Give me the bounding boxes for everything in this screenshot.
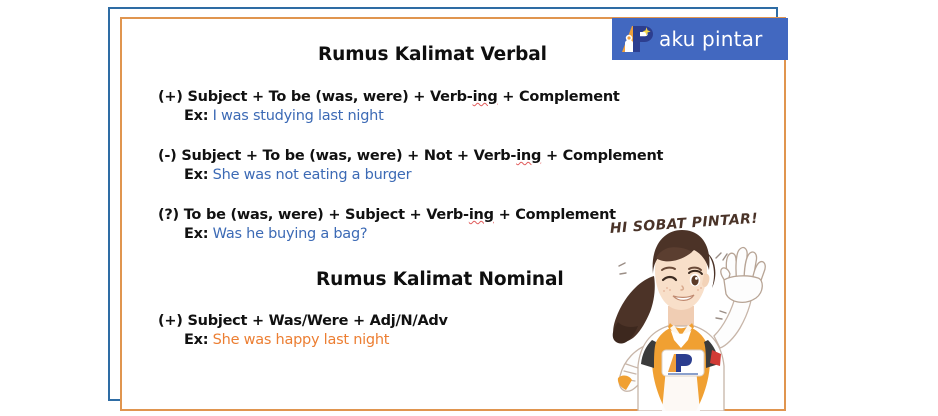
formula-text-post: + Complement (541, 148, 663, 164)
example-nominal-positive: Ex: She was happy last night (184, 332, 448, 348)
example-label: Ex: (184, 108, 208, 124)
aku-pintar-logo-mark-icon (620, 24, 656, 54)
formula-text-pre: (?) To be (was, were) + Subject + Verb- (158, 207, 469, 223)
section-title-verbal: Rumus Kalimat Verbal (318, 44, 547, 65)
formula-text-spellcheck: ing (516, 148, 541, 164)
example-text: Was he buying a bag? (213, 226, 368, 242)
formula-verbal-question: (?) To be (was, were) + Subject + Verb-i… (158, 207, 616, 223)
example-text: I was studying last night (213, 108, 384, 124)
rule-verbal-positive: (+) Subject + To be (was, were) + Verb-i… (158, 89, 620, 124)
formula-text-pre: (-) Subject + To be (was, were) + Not + … (158, 148, 516, 164)
formula-nominal-positive: (+) Subject + Was/Were + Adj/N/Adv (158, 313, 448, 329)
formula-text-pre: (+) Subject + To be (was, were) + Verb- (158, 89, 473, 105)
formula-text-spellcheck: ing (469, 207, 494, 223)
example-label: Ex: (184, 226, 208, 242)
slide-root: aku pintar Rumus Kalimat Verbal (+) Subj… (0, 0, 938, 416)
rule-nominal-positive: (+) Subject + Was/Were + Adj/N/Adv Ex: S… (158, 313, 448, 348)
logo-brand-text: aku pintar (659, 27, 763, 51)
section-title-nominal: Rumus Kalimat Nominal (316, 269, 564, 290)
example-label: Ex: (184, 167, 208, 183)
mascot-illustration (596, 218, 786, 411)
aku-pintar-logo[interactable]: aku pintar (612, 18, 788, 60)
example-verbal-negative: Ex: She was not eating a burger (184, 167, 663, 183)
example-verbal-positive: Ex: I was studying last night (184, 108, 620, 124)
formula-verbal-positive: (+) Subject + To be (was, were) + Verb-i… (158, 89, 620, 105)
rule-verbal-question: (?) To be (was, were) + Subject + Verb-i… (158, 207, 616, 242)
example-text: She was not eating a burger (213, 167, 412, 183)
formula-text-spellcheck: ing (473, 89, 498, 105)
formula-text-post: + Complement (498, 89, 620, 105)
formula-verbal-negative: (-) Subject + To be (was, were) + Not + … (158, 148, 663, 164)
example-text: She was happy last night (213, 332, 390, 348)
example-verbal-question: Ex: Was he buying a bag? (184, 226, 616, 242)
example-label: Ex: (184, 332, 208, 348)
formula-text-pre: (+) Subject + Was/Were + Adj/N/Adv (158, 313, 448, 329)
rule-verbal-negative: (-) Subject + To be (was, were) + Not + … (158, 148, 663, 183)
